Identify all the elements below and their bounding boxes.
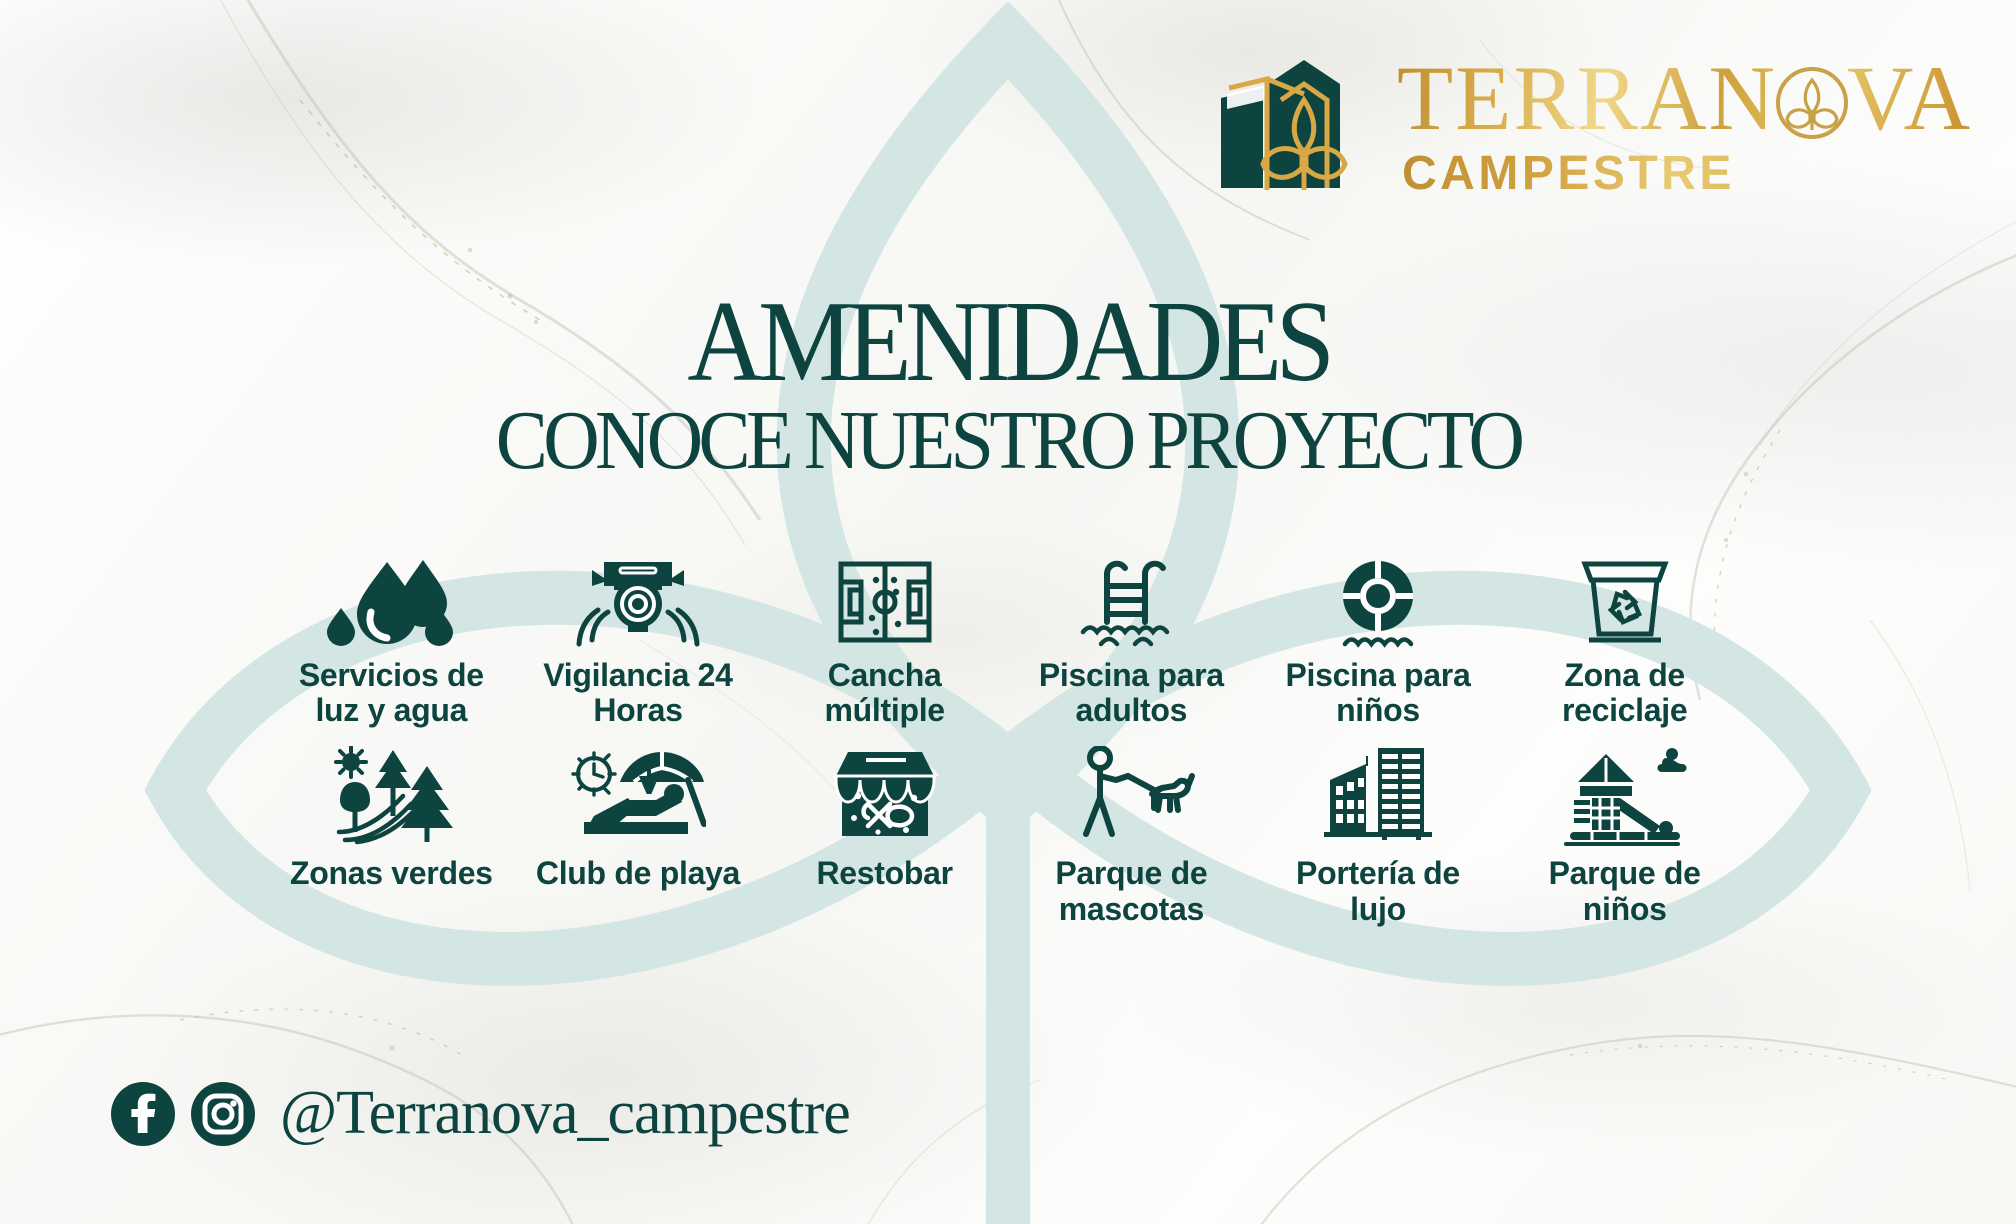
security-camera-icon [576,556,700,648]
person-walking-dog-icon [1066,746,1196,846]
amenity-restobar[interactable]: Restobar [761,746,1008,926]
playground-slide-icon [1562,746,1688,846]
page-title: AMENIDADES [81,288,1936,397]
facebook-icon[interactable] [110,1081,176,1147]
buildings-icon [1316,746,1440,846]
amenity-club-de-playa[interactable]: Club de playa [515,746,762,926]
terranova-building-leaf-mark [1205,38,1383,198]
recycling-bin-icon [1575,556,1675,648]
amenity-servicios-de-luz-y-agua[interactable]: Servicios de luz y agua [268,556,515,728]
heading-block: AMENIDADES CONOCE NUESTRO PROYECTO [0,288,2016,483]
amenities-grid: Servicios de luz y agua [268,556,1748,927]
page-subtitle: CONOCE NUESTRO PROYECTO [71,399,1946,483]
wordmark-part1: TERRAN [1397,61,1777,136]
amenity-label: Zona de reciclaje [1517,658,1732,728]
amenity-label: Parque de mascotas [1024,856,1239,926]
logo-wordmark: TERRAN VA [1397,60,1972,138]
amenity-label: Vigilancia 24 Horas [530,658,745,728]
landscape-trees-sun-icon [325,746,457,846]
amenity-label: Portería de lujo [1270,856,1485,926]
pool-ladder-icon [1073,556,1189,648]
amenity-parque-de-ninos[interactable]: Parque de niños [1501,746,1748,926]
social-handle[interactable]: @Terranova_campestre [280,1078,850,1149]
water-drops-icon [327,556,455,648]
life-ring-icon [1323,556,1433,648]
sports-court-icon [836,556,934,648]
amenity-zonas-verdes[interactable]: Zonas verdes [268,746,515,926]
amenity-parque-de-mascotas[interactable]: Parque de mascotas [1008,746,1255,926]
brand-logo[interactable]: TERRAN VA CAMPESTRE [1205,38,1972,201]
social-footer: @Terranova_campestre [110,1078,850,1149]
amenity-zona-de-reciclaje[interactable]: Zona de reciclaje [1501,556,1748,728]
logo-sub-wordmark: CAMPESTRE [1402,146,1972,201]
leaf-flower-in-o-icon [1773,64,1851,142]
wordmark-part2: VA [1847,61,1972,136]
amenity-porteria-de-lujo[interactable]: Portería de lujo [1255,746,1502,926]
food-stall-icon [830,746,940,846]
amenity-vigilancia-24-horas[interactable]: Vigilancia 24 Horas [515,556,762,728]
amenity-label: Zonas verdes [290,856,493,891]
amenity-label: Club de playa [536,856,740,891]
amenity-label: Piscina para adultos [1024,658,1239,728]
amenity-label: Restobar [817,856,953,891]
amenity-label: Piscina para niños [1270,658,1485,728]
amenity-label: Cancha múltiple [777,658,992,728]
amenity-label: Parque de niños [1517,856,1732,926]
amenity-piscina-para-ninos[interactable]: Piscina para niños [1255,556,1502,728]
instagram-icon[interactable] [190,1081,256,1147]
amenity-label: Servicios de luz y agua [284,658,499,728]
amenity-cancha-multiple[interactable]: Cancha múltiple [761,556,1008,728]
amenity-piscina-para-adultos[interactable]: Piscina para adultos [1008,556,1255,728]
beach-lounger-umbrella-icon [570,746,706,846]
